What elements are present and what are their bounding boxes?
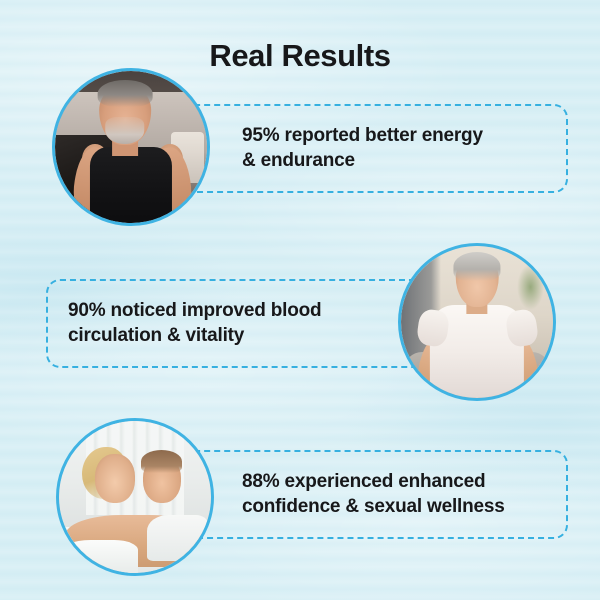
couple-man-hair [141,450,182,473]
man-shirt [147,515,208,561]
photo-2-image [401,246,553,398]
real-results-poster: Real Results 95% reported better energy … [0,0,600,600]
photo-3-image [59,421,211,573]
man-hair [98,80,153,107]
result-row-1: 95% reported better energy & endurance [0,68,600,228]
callout-text-2: 90% noticed improved blood circulation &… [68,299,321,348]
result-photo-3 [56,418,214,576]
result-row-3: 88% experienced enhanced confidence & se… [0,418,600,583]
photo-1-image [55,71,207,223]
woman-hair [453,252,500,281]
room-plant [517,264,544,310]
callout-text-3: 88% experienced enhanced confidence & se… [242,470,505,519]
couple-woman-head [95,454,135,503]
result-photo-2 [398,243,556,401]
callout-text-1: 95% reported better energy & endurance [242,124,483,173]
man-tank-top [90,147,172,223]
result-photo-1 [52,68,210,226]
pillow [59,540,138,573]
result-row-2: 90% noticed improved blood circulation &… [0,243,600,405]
man-beard [105,117,145,144]
